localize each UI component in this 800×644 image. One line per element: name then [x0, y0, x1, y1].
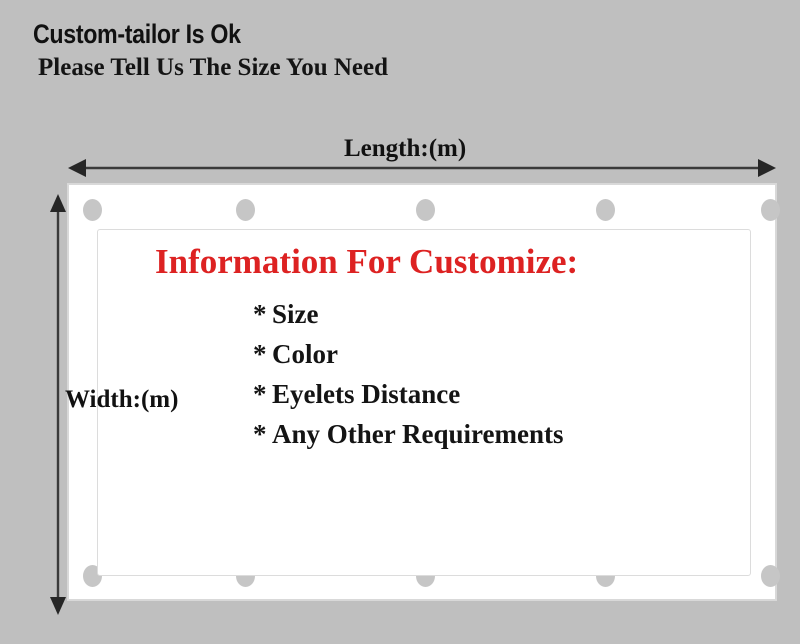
info-heading: Information For Customize: — [155, 243, 578, 281]
list-item-label: Size — [272, 299, 319, 329]
list-item-label: Color — [272, 339, 338, 369]
list-item-label: Eyelets Distance — [272, 379, 460, 409]
list-item: *Color — [253, 334, 564, 374]
width-label: Width:(m) — [65, 386, 178, 414]
bullet-star-icon: * — [253, 374, 272, 414]
eyelet — [236, 199, 255, 221]
length-label: Length:(m) — [344, 135, 466, 163]
eyelet — [761, 565, 780, 587]
list-item-label: Any Other Requirements — [272, 419, 564, 449]
list-item: *Size — [253, 294, 564, 334]
eyelet — [596, 199, 615, 221]
eyelet — [416, 199, 435, 221]
info-list: *Size *Color *Eyelets Distance *Any Othe… — [253, 294, 564, 454]
eyelet — [83, 199, 102, 221]
list-item: *Eyelets Distance — [253, 374, 564, 414]
page-subtitle: Please Tell Us The Size You Need — [38, 54, 388, 82]
diagram-canvas: Custom-tailor Is Ok Please Tell Us The S… — [0, 0, 800, 644]
bullet-star-icon: * — [253, 414, 272, 454]
list-item: *Any Other Requirements — [253, 414, 564, 454]
bullet-star-icon: * — [253, 294, 272, 334]
eyelet — [761, 199, 780, 221]
bullet-star-icon: * — [253, 334, 272, 374]
page-title: Custom-tailor Is Ok — [33, 20, 241, 48]
